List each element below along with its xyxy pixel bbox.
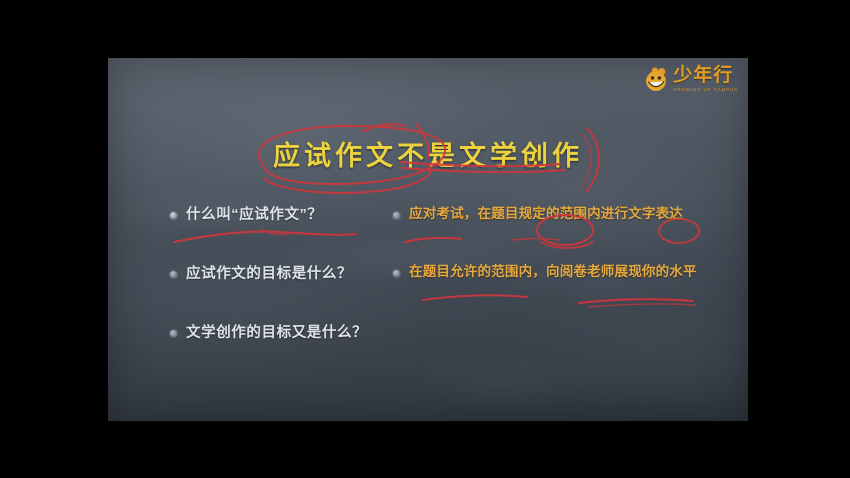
list-bullet-icon [393,212,400,219]
list-item-label: 应对考试，在题目规定的范围内进行文字表达 [409,206,683,223]
list-item: 什么叫“应试作文”？ [170,206,400,224]
list-item: 应对考试，在题目规定的范围内进行文字表达 [393,206,723,223]
brand-subtitle: GROWING UP CAMPUS [673,88,738,92]
left-item-1-red-underline [170,220,390,254]
brand-logo-textwrap: 少年行 GROWING UP CAMPUS [673,66,738,92]
brand-logo: 少年行 GROWING UP CAMPUS [644,66,738,92]
list-item: 在题目允许的范围内，向阅卷老师展现你的水平 [393,264,723,281]
list-bullet-icon [170,212,177,219]
list-bullet-icon [170,271,177,278]
answer-column: 应对考试，在题目规定的范围内进行文字表达 在题目允许的范围内，向阅卷老师展 [393,206,723,281]
video-frame-stage: 少年行 GROWING UP CAMPUS 应试作文不是文学创作 [0,0,850,478]
list-item-label: 文学创作的目标又是什么？ [186,324,367,342]
smiley-face-icon [644,67,669,92]
list-item: 应试作文的目标是什么？ [170,265,400,283]
list-item-label: 在题目允许的范围内，向阅卷老师展现你的水平 [409,264,697,281]
slide-title: 应试作文不是文学创作 [273,134,583,173]
list-bullet-icon [393,270,400,277]
list-item: 文学创作的目标又是什么？ [170,324,400,342]
right-item-2-red-underline [393,276,713,310]
brand-name: 少年行 [673,66,733,85]
list-bullet-icon [170,330,177,337]
slide-title-block: 应试作文不是文学创作 [108,134,748,173]
slide-content-columns: 什么叫“应试作文”？ 应试作文的目标是什么？ 文学创作的目标又是什么？ [108,206,748,406]
list-item-label: 应试作文的目标是什么？ [186,265,352,283]
list-item-label: 什么叫“应试作文”？ [186,206,323,224]
question-column: 什么叫“应试作文”？ 应试作文的目标是什么？ 文学创作的目标又是什么？ [170,206,400,342]
blackboard-slide: 少年行 GROWING UP CAMPUS 应试作文不是文学创作 [108,58,748,421]
